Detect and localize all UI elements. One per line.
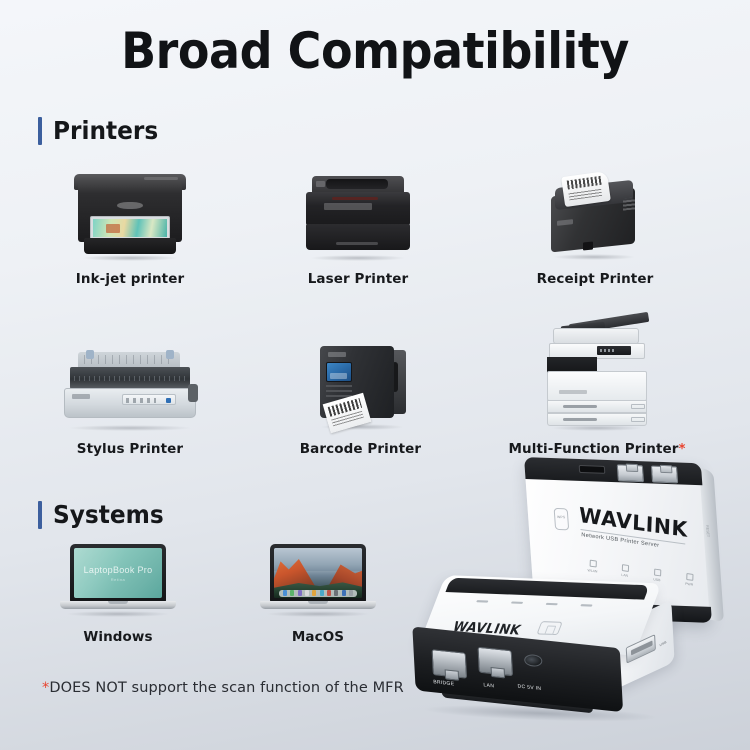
macos-laptop-icon (260, 542, 376, 614)
usb-port-rear (579, 465, 606, 474)
stylus-art-box (40, 330, 220, 428)
product-image-group: WPS WAVLINK Network USB Printer Server W… (410, 452, 750, 750)
compat-label-barcode: Barcode Printer (300, 441, 421, 457)
compat-item-receipt-printer: Receipt Printer (500, 160, 690, 288)
rj45-port-lan-rear (651, 466, 678, 484)
windows-laptop-icon: LaptopBook Pro Retina (60, 542, 176, 614)
reset-label: RESET (705, 525, 710, 537)
rj45-port-bridge-front (432, 649, 468, 679)
multifunction-printer-icon (535, 316, 659, 428)
macos-screen (274, 548, 362, 598)
compat-item-windows: LaptopBook Pro Retina Windows (48, 536, 188, 646)
section-header-systems: Systems (38, 500, 172, 529)
footnote-text: DOES NOT support the scan function of th… (49, 680, 403, 696)
windows-screen: LaptopBook Pro Retina (74, 548, 162, 598)
compat-label-macos: MacOS (292, 629, 344, 645)
compat-label-inkjet: Ink-jet printer (76, 271, 184, 287)
barcode-art-box (268, 330, 453, 428)
compat-item-multifunction-printer: Multi-Function Printer* (497, 312, 697, 458)
compat-label-receipt: Receipt Printer (537, 271, 654, 287)
windows-caption-wrap: Windows (48, 628, 188, 646)
compat-label-laser: Laser Printer (308, 271, 409, 287)
section-title-systems: Systems (53, 500, 164, 529)
section-accent-bar (38, 501, 42, 529)
footnote: *DOES NOT support the scan function of t… (42, 680, 404, 696)
macos-dock (279, 590, 356, 597)
inkjet-art-box (40, 160, 220, 258)
section-header-printers: Printers (38, 116, 166, 145)
compat-item-barcode-printer: Barcode Printer (268, 330, 453, 458)
inkjet-caption-wrap: Ink-jet printer (40, 270, 220, 288)
barcode-printer-icon (306, 336, 416, 428)
windows-art-box: LaptopBook Pro Retina (48, 536, 188, 614)
receipt-caption-wrap: Receipt Printer (500, 270, 690, 288)
compat-label-stylus: Stylus Printer (77, 441, 183, 457)
macos-caption-wrap: MacOS (248, 628, 388, 646)
led-pwr: PWR (681, 572, 698, 598)
macos-art-box (248, 536, 388, 614)
print-server-front-unit: WAVLINK BRIDGE LAN DC 5V IN USB (408, 573, 677, 737)
compat-item-inkjet-printer: Ink-jet printer (40, 160, 220, 288)
mfp-art-box (497, 312, 697, 428)
laptop-screen-wordmark: LaptopBook Pro (84, 565, 153, 575)
compat-item-stylus-printer: Stylus Printer (40, 330, 220, 458)
compat-label-windows: Windows (83, 629, 152, 645)
stylus-caption-wrap: Stylus Printer (40, 440, 220, 458)
rj45-port-bridge-rear (617, 464, 644, 482)
laptop-screen-subtext: Retina (111, 577, 126, 582)
port-label-lan: LAN (483, 682, 494, 689)
compat-item-laser-printer: Laser Printer (268, 160, 448, 288)
compat-item-macos: MacOS (248, 536, 388, 646)
wps-label-rear: WPS (555, 515, 567, 519)
laser-caption-wrap: Laser Printer (268, 270, 448, 288)
receipt-printer-icon (543, 166, 647, 258)
page-title: Broad Compatibility (30, 22, 720, 80)
infographic-page: Broad Compatibility Printers Ink-jet pri… (0, 0, 750, 750)
receipt-art-box (500, 160, 690, 258)
section-title-printers: Printers (53, 116, 158, 145)
laser-art-box (268, 160, 448, 258)
inkjet-printer-icon (72, 166, 188, 258)
stylus-printer-icon (60, 348, 200, 428)
laser-printer-icon (302, 170, 414, 258)
rj45-port-lan-front (477, 647, 513, 677)
section-accent-bar (38, 117, 42, 145)
